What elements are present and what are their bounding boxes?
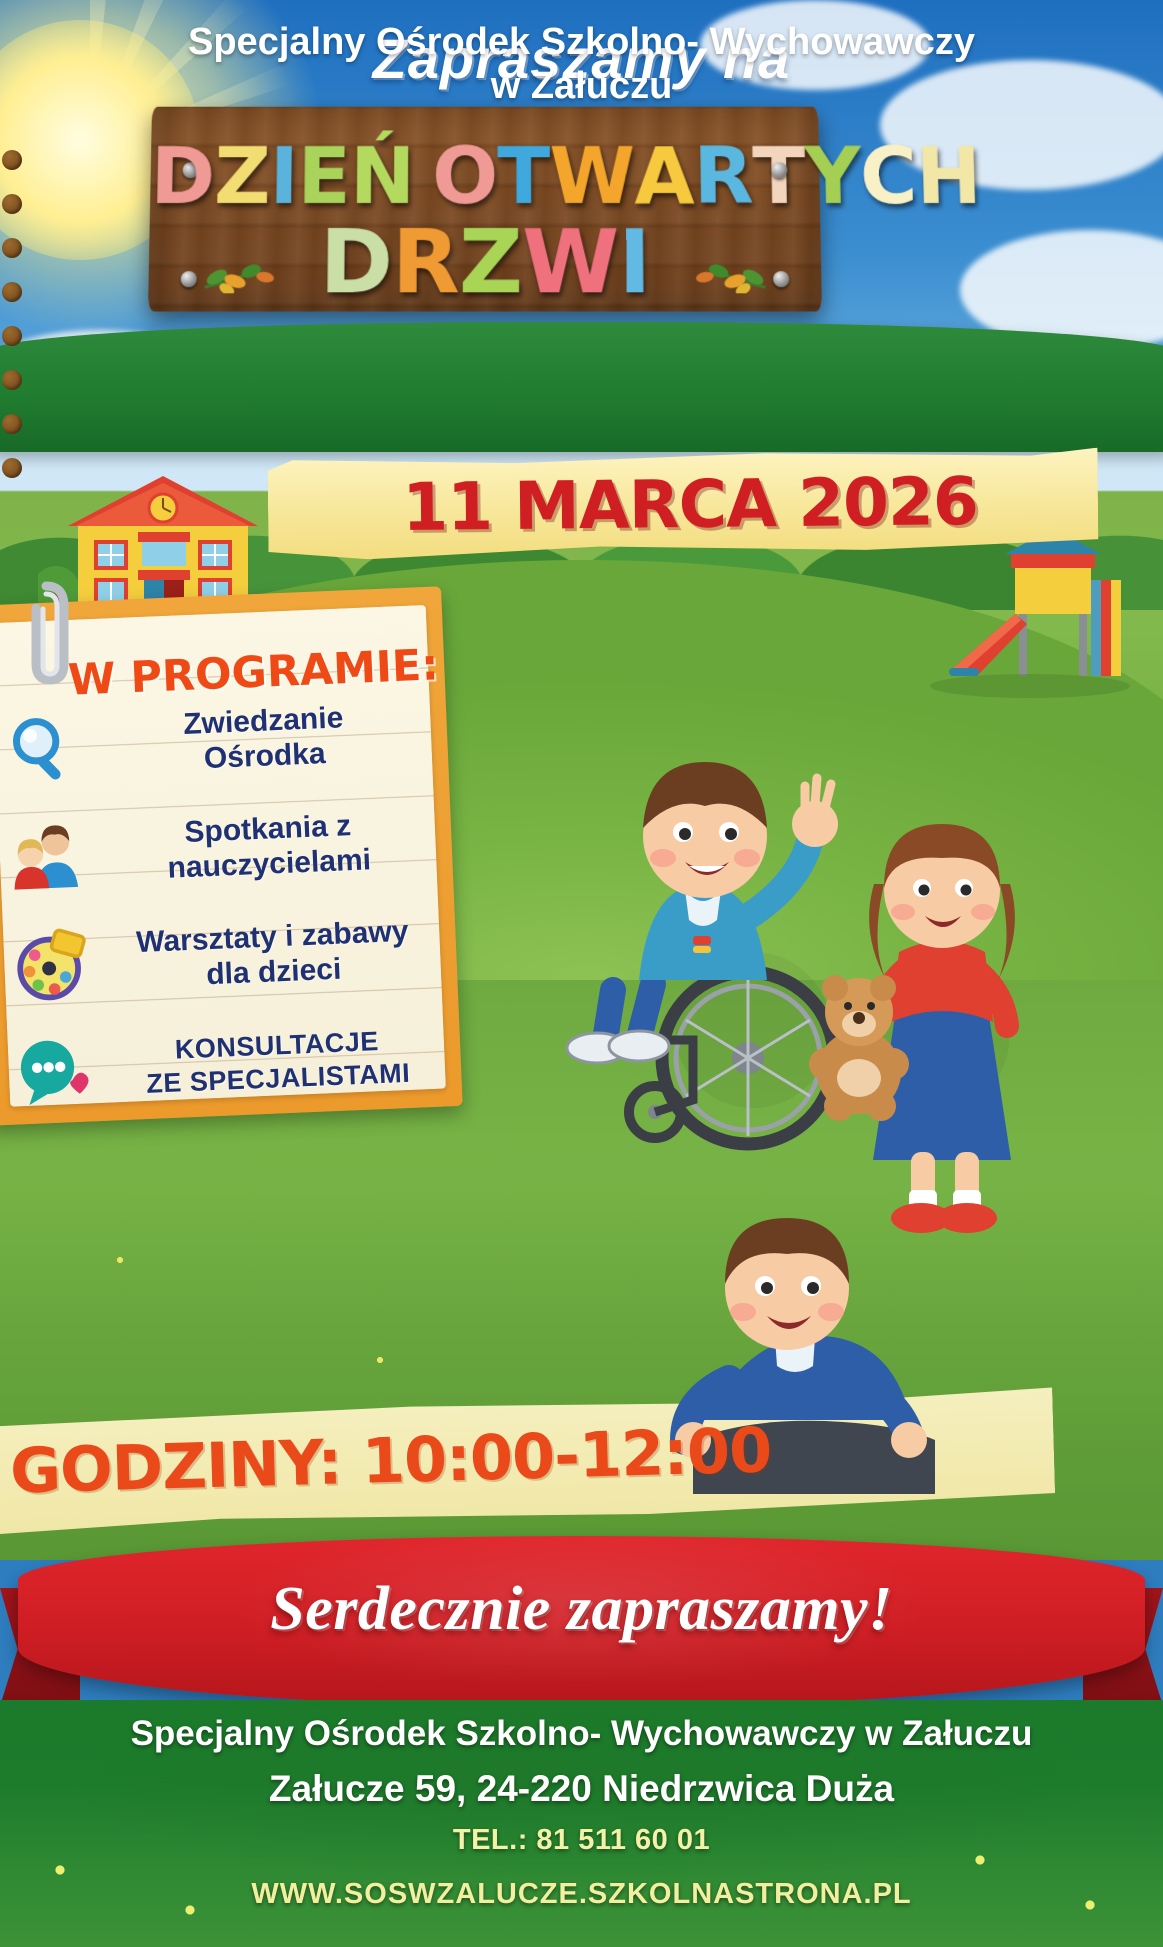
sign-letter: T <box>497 138 549 216</box>
sign-letter: T <box>752 138 805 216</box>
sign-letter: H <box>915 138 981 216</box>
sign-letter: R <box>392 218 459 306</box>
speech-bubble-icon <box>17 1033 94 1110</box>
spiral-ring <box>2 370 22 390</box>
wooden-sign-board: DZIEŃ OTWARTYCH DRZWI <box>148 107 822 312</box>
program-item: Warsztaty i zabawydla dzieci <box>0 896 474 1016</box>
sign-letter <box>414 138 432 216</box>
ribbon-text: Serdecznie zapraszamy! <box>0 1574 1163 1645</box>
spiral-ring <box>2 238 22 258</box>
program-list: ZwiedzanieOśrodkaSpotkania znauczycielam… <box>0 680 479 1131</box>
program-item: Spotkania znauczycielami <box>0 788 469 908</box>
sign-letter: D <box>150 138 215 216</box>
girl-with-teddy-bear-illustration <box>809 824 1015 1233</box>
sign-letter: Z <box>214 138 271 216</box>
sign-letter: Ń <box>350 138 415 216</box>
sign-letter: D <box>319 218 392 306</box>
program-item: ZwiedzanieOśrodka <box>0 680 465 800</box>
school-name-line-1: Specjalny Ośrodek Szkolno- Wychowawczy <box>0 20 1163 64</box>
leaf-spray-icon <box>678 247 769 293</box>
program-item-label: Spotkania znauczycielami <box>82 803 469 889</box>
poster-root: Zapraszamy na DZIEŃ OTWARTYCH DRZWI <box>0 0 1163 1947</box>
spiral-ring <box>2 194 22 214</box>
school-name-banner <box>0 322 1163 452</box>
school-name-text: Specjalny Ośrodek Szkolno- Wychowawczy w… <box>0 20 1163 108</box>
sign-letter: O <box>432 138 497 216</box>
sign-letter: E <box>297 138 350 216</box>
leaf-spray-icon <box>201 247 292 293</box>
program-item: KONSULTACJEZE SPECJALISTAMI <box>5 1004 479 1124</box>
program-item-label: Warsztaty i zabawydla dzieci <box>87 911 474 997</box>
sign-letter: W <box>522 218 619 306</box>
footer-address: Załucze 59, 24-220 Niedrzwica Duża <box>0 1768 1163 1810</box>
people-icon <box>8 817 85 894</box>
playground-slide-illustration <box>915 520 1145 700</box>
sign-letter: C <box>859 138 917 216</box>
event-date: 11 MARCA 2026 <box>310 459 1071 551</box>
footer-school-name: Specjalny Ośrodek Szkolno- Wychowawczy w… <box>0 1714 1163 1754</box>
spiral-ring <box>2 150 22 170</box>
spiral-ring <box>2 414 22 434</box>
footer-contact-block: Specjalny Ośrodek Szkolno- Wychowawczy w… <box>0 1700 1163 1947</box>
sign-letter: I <box>618 218 651 306</box>
notebook-spiral-binding <box>2 150 24 490</box>
spiral-ring <box>2 326 22 346</box>
sign-letter: Y <box>804 138 861 216</box>
sign-letter: I <box>269 138 298 216</box>
footer-phone: TEL.: 81 511 60 01 <box>0 1824 1163 1857</box>
spiral-ring <box>2 458 22 478</box>
school-name-line-2: w Załuczu <box>0 64 1163 108</box>
magnifier-icon <box>4 709 81 786</box>
footer-website[interactable]: WWW.SOSWZALUCZE.SZKOLNASTRONA.PL <box>0 1878 1163 1911</box>
sign-title-line-1: DZIEŃ OTWARTYCH <box>150 138 820 216</box>
program-item-label: KONSULTACJEZE SPECJALISTAMI <box>91 1021 477 1103</box>
paperclip-icon <box>20 578 72 690</box>
sign-letter: A <box>634 138 694 216</box>
program-item-label: ZwiedzanieOśrodka <box>78 695 465 781</box>
boy-in-wheelchair-illustration <box>567 762 838 1144</box>
sign-letter: R <box>693 138 753 216</box>
sign-letter: Z <box>459 218 522 306</box>
spiral-ring <box>2 282 22 302</box>
sign-letter: W <box>549 138 634 216</box>
paint-palette-icon <box>13 925 90 1002</box>
